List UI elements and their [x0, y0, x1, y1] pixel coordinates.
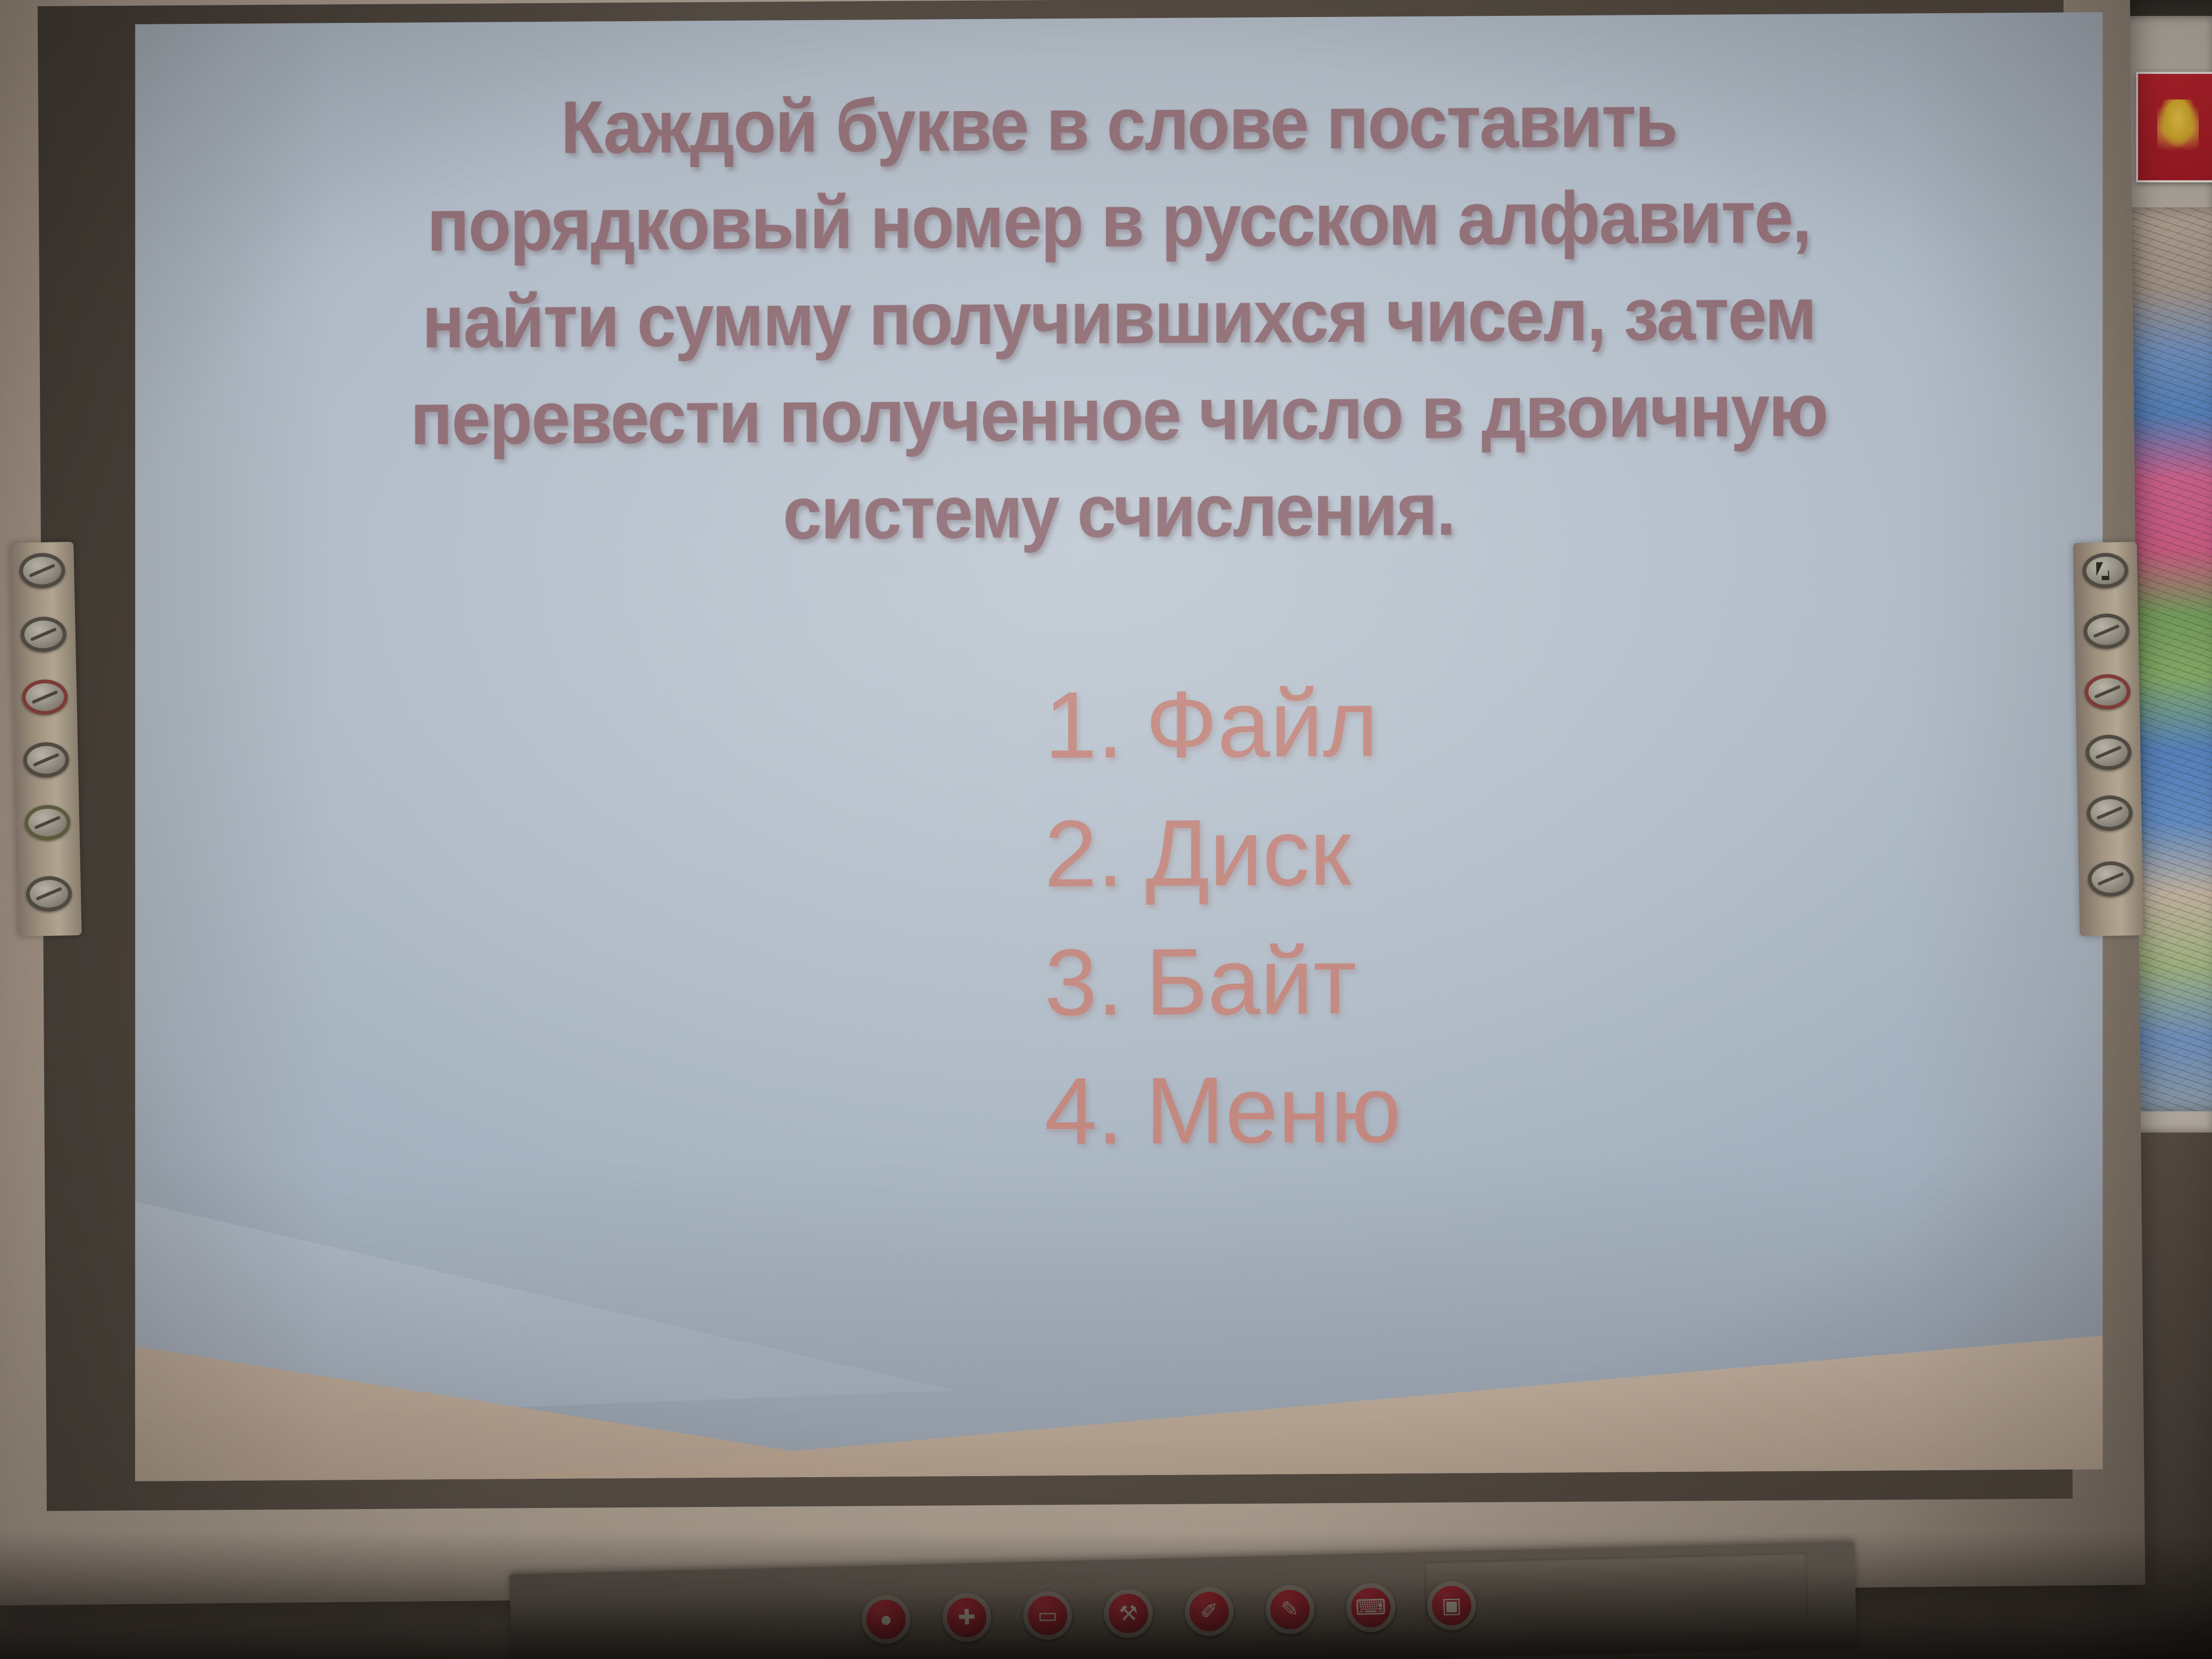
task-line-1: Каждой букве в слове поставить — [344, 71, 1893, 177]
list-item: 1.Файл — [1044, 655, 2039, 790]
power-button[interactable]: ● — [861, 1595, 911, 1645]
world-map-poster — [2127, 207, 2212, 1111]
tray-button-group: ● ✚ ▭ ⚒ ✐ ✎ ⌨ ▣ — [861, 1581, 1477, 1645]
rail-button-1[interactable] — [19, 552, 65, 589]
list-item: 2.Диск — [1044, 784, 2039, 919]
task-line-4: перевести полученное число в двоичную — [344, 361, 1893, 467]
wrench-button[interactable]: ⚒ — [1103, 1588, 1153, 1638]
russian-flag-poster — [2136, 72, 2212, 182]
slide-task-text: Каждой букве в слове поставить порядковы… — [344, 71, 1893, 564]
rail-button-4[interactable] — [2085, 734, 2132, 770]
rail-button-5[interactable] — [2087, 795, 2133, 831]
mouse-button[interactable]: ▭ — [1023, 1590, 1073, 1640]
list-item-label: Байт — [1145, 928, 1356, 1035]
rail-button-2[interactable] — [2083, 613, 2130, 649]
rail-button-2[interactable] — [20, 616, 66, 652]
coat-of-arms-emblem — [2157, 99, 2199, 150]
list-item-label: Файл — [1145, 670, 1378, 777]
task-line-2: порядковый номер в русском алфавите, — [344, 167, 1893, 274]
classroom-whiteboard-photo: Каждой букве в слове поставить порядковы… — [0, 0, 2212, 1659]
whiteboard-frame: Каждой букве в слове поставить порядковы… — [0, 0, 2145, 1605]
list-item-number: 1. — [1044, 660, 1145, 790]
list-item-label: Диск — [1145, 799, 1351, 906]
list-item: 3.Байт — [1044, 912, 2039, 1048]
left-control-rail — [10, 542, 81, 936]
rail-button-3[interactable] — [2084, 674, 2131, 709]
orientation-button[interactable]: ✚ — [942, 1593, 992, 1643]
pen-tray-slot — [1424, 1552, 1808, 1630]
list-item-number: 2. — [1044, 789, 1145, 918]
keyboard-button[interactable]: ⌨ — [1346, 1582, 1396, 1632]
rail-button-3[interactable] — [22, 679, 68, 715]
pen-button[interactable]: ✐ — [1184, 1587, 1234, 1637]
projected-slide-surface[interactable]: Каждой букве в слове поставить порядковы… — [135, 12, 2102, 1481]
slide-content: Каждой букве в слове поставить порядковы… — [135, 12, 2102, 1481]
whiteboard-bezel: Каждой букве в слове поставить порядковы… — [38, 0, 2073, 1511]
right-control-rail — [2073, 542, 2144, 936]
rail-button-4[interactable] — [23, 742, 69, 778]
list-item-number: 3. — [1044, 918, 1145, 1047]
rail-button-5[interactable] — [24, 805, 71, 841]
rail-button-cursor-icon[interactable] — [2082, 552, 2129, 588]
rail-button-6[interactable] — [2088, 861, 2134, 896]
camera-button[interactable]: ▣ — [1427, 1581, 1477, 1631]
task-line-3: найти сумму получившихся чисел, затем — [344, 264, 1893, 371]
highlighter-button[interactable]: ✎ — [1265, 1585, 1315, 1635]
list-item-label: Меню — [1145, 1056, 1401, 1163]
task-line-5: систему счисления. — [344, 458, 1893, 564]
list-item-number: 4. — [1044, 1046, 1145, 1176]
list-item: 4.Меню — [1044, 1041, 2039, 1176]
slide-word-list: 1.Файл 2.Диск 3.Байт 4.Меню — [1044, 655, 2039, 1176]
rail-button-6[interactable] — [26, 876, 72, 912]
